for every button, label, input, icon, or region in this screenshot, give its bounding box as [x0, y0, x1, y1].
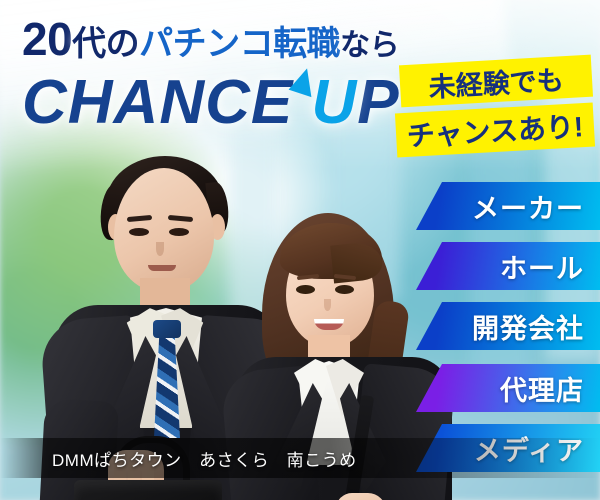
- badge-label: 未経験でも: [428, 58, 565, 104]
- man-nose: [156, 242, 164, 256]
- woman-eye-right: [335, 285, 354, 294]
- woman-nose: [324, 299, 331, 311]
- headline-keyword: パチンコ転職: [139, 25, 340, 63]
- headline-age-suffix: 代の: [72, 25, 139, 63]
- badge-label: チャンスあり!: [406, 105, 584, 155]
- category-bar-development-company[interactable]: 開発会社: [416, 302, 600, 350]
- logo-letter-p: P: [357, 68, 399, 137]
- black-briefcase: [74, 480, 222, 500]
- credit-text: DMMぱちタウン あさくら 南こうめ: [52, 446, 357, 471]
- category-label: ホール: [500, 247, 584, 286]
- man-tie-knot: [153, 320, 181, 338]
- headline: 20代のパチンコ転職なら: [22, 16, 399, 65]
- man-eye-left: [129, 228, 149, 236]
- category-bar-maker[interactable]: メーカー: [416, 182, 600, 230]
- logo-letter-u: U: [311, 68, 357, 137]
- man-eye-right: [169, 228, 189, 236]
- headline-tail: なら: [340, 29, 399, 62]
- banner-ad[interactable]: 20代のパチンコ転職なら CHANCE UP 未経験でも チャンスあり! メーカ…: [0, 0, 600, 500]
- category-bar-hall[interactable]: ホール: [416, 242, 600, 290]
- category-label: メーカー: [472, 187, 584, 226]
- logo-word-chance: CHANCE: [22, 68, 293, 137]
- chance-up-logo: CHANCE UP: [22, 72, 400, 134]
- category-label: 開発会社: [472, 307, 584, 346]
- category-bar-agency[interactable]: 代理店: [416, 364, 600, 412]
- man-mouth: [148, 265, 176, 271]
- woman-eye-left: [296, 285, 315, 294]
- credit-band: DMMぱちタウン あさくら 南こうめ: [0, 438, 600, 478]
- headline-age-number: 20: [22, 13, 72, 65]
- category-label: 代理店: [500, 369, 584, 408]
